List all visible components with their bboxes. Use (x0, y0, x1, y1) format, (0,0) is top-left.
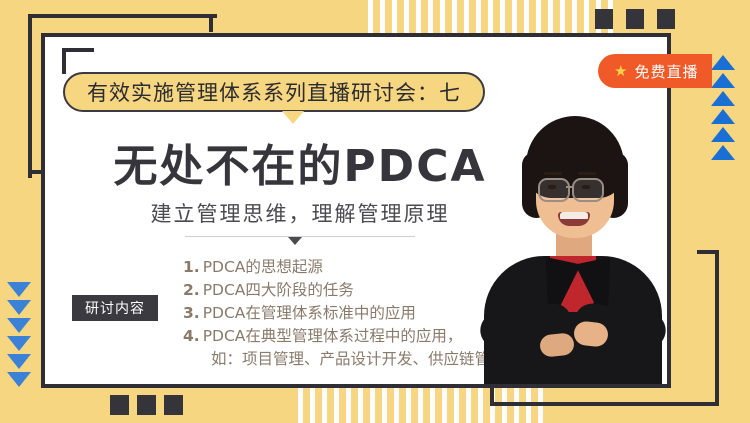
free-live-badge[interactable]: ★ 免费直播 (598, 54, 712, 88)
poster-canvas: ★ 免费直播 有效实施管理体系系列直播研讨会：七 无处不在的PDCA 建立管理思… (0, 0, 750, 423)
triangle-down-icon (7, 336, 31, 351)
triangle-down-icon (7, 300, 31, 315)
presenter-eye-left (548, 185, 556, 189)
triangle-up-icon (711, 73, 735, 88)
triangle-column-left (7, 282, 31, 390)
free-live-label: 免费直播 (634, 61, 698, 82)
presenter-brow-left (544, 172, 562, 175)
decor-square-top-2 (626, 9, 644, 29)
triangle-down-icon (7, 318, 31, 333)
decor-square-bottom-1 (110, 395, 129, 415)
triangle-down-icon (7, 372, 31, 387)
triangle-up-icon (711, 145, 735, 160)
presenter-glasses-left (538, 178, 570, 202)
pill-tail (282, 111, 304, 124)
frame-bottom-right-tick-top (697, 250, 715, 254)
list-item-text: PDCA在典型管理体系过程中的应用， (203, 327, 463, 345)
triangle-down-icon (7, 354, 31, 369)
frame-top-left-tick-right (209, 14, 213, 32)
presenter-fringe (534, 126, 616, 160)
decor-square-bottom-2 (137, 395, 156, 415)
page-subtitle: 建立管理思维，理解管理原理 (90, 198, 510, 228)
triangle-column-right (711, 55, 735, 163)
series-banner-text: 有效实施管理体系系列直播研讨会：七 (87, 77, 461, 107)
presenter-teeth (560, 212, 588, 219)
series-banner-pill: 有效实施管理体系系列直播研讨会：七 (63, 72, 485, 112)
decor-square-top-3 (657, 9, 675, 29)
corner-bracket-decor (62, 48, 94, 74)
status-badge: 研讨内容 (72, 295, 158, 321)
list-item-number: 3. (183, 304, 200, 322)
list-item-number: 1. (183, 258, 200, 276)
triangle-up-icon (711, 127, 735, 142)
presenter-glasses-right (572, 178, 604, 202)
content-badge-label: 研讨内容 (85, 298, 145, 318)
presenter-photo (478, 60, 668, 384)
triangle-up-icon (711, 109, 735, 124)
decor-square-top-1 (595, 9, 613, 29)
star-icon: ★ (614, 64, 627, 79)
list-item-text: PDCA在管理体系标准中的应用 (203, 304, 416, 322)
triangle-up-icon (711, 55, 735, 70)
list-item-text: PDCA四大阶段的任务 (203, 281, 354, 299)
chevron-down-icon (288, 237, 302, 245)
presenter-glasses-bridge (566, 186, 574, 188)
presenter-eye-right (582, 185, 590, 189)
stripe-pattern-top (368, 0, 618, 33)
triangle-down-icon (7, 282, 31, 297)
list-item-text: PDCA的思想起源 (203, 258, 323, 276)
decor-square-bottom-3 (164, 395, 183, 415)
list-item-number: 4. (183, 327, 200, 345)
triangle-up-icon (711, 91, 735, 106)
presenter-brow-right (578, 172, 596, 175)
list-item-number: 2. (183, 281, 200, 299)
page-title: 无处不在的PDCA (90, 130, 510, 194)
